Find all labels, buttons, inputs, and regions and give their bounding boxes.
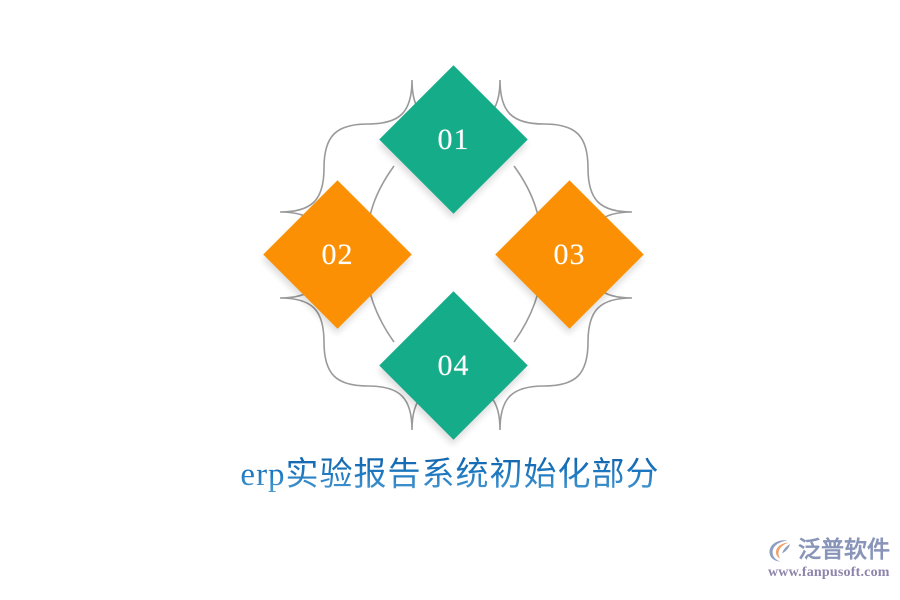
diagram-node-02-label: 02 [322, 240, 354, 270]
watermark-url-text: www.fanpusoft.com [768, 565, 896, 581]
watermark: 泛普软件 www.fanpusoft.com [766, 534, 896, 586]
diagram-four-step-cycle: 01 02 03 04 [244, 44, 664, 464]
watermark-brand-text: 泛普软件 [798, 535, 890, 565]
diagram-node-04-label: 04 [438, 351, 470, 381]
page-title: erp实验报告系统初始化部分 [0, 452, 900, 498]
diagram-node-03-label: 03 [554, 240, 586, 270]
watermark-brand-row: 泛普软件 [766, 534, 896, 566]
page-canvas: 01 02 03 04 erp实验报告系统初始化部分 泛普软件 www.fanp… [0, 0, 900, 600]
diagram-node-01-label: 01 [438, 125, 470, 155]
fanpu-logo-icon [766, 535, 796, 565]
